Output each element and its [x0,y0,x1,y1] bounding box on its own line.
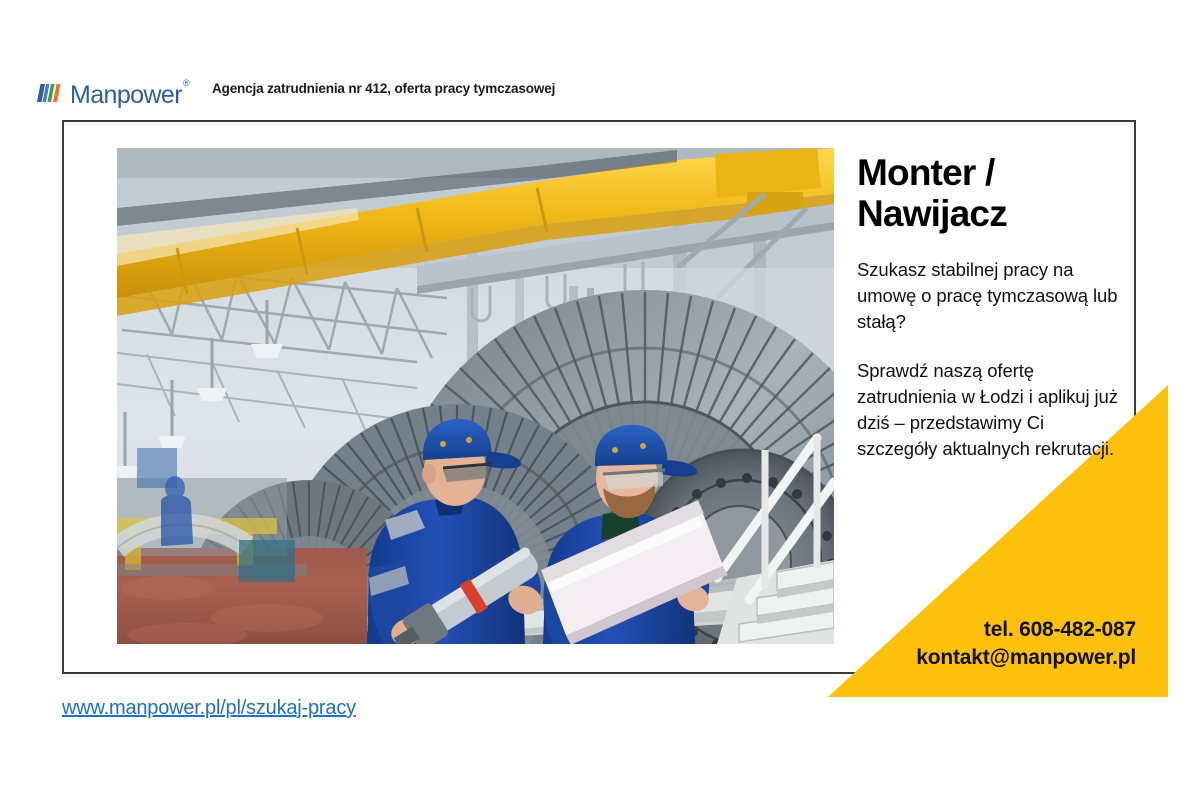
jobs-website-link[interactable]: www.manpower.pl/pl/szukaj-pracy [62,697,356,720]
offer-text-column: Monter / Nawijacz Szukasz stabilnej prac… [857,152,1119,463]
contact-email[interactable]: kontakt@manpower.pl [830,644,1136,672]
factory-turbine-photo [117,148,834,644]
page-header: Manpower® Agencja zatrudnienia nr 412, o… [0,70,1200,116]
page-title: Monter / Nawijacz [857,152,1119,235]
contact-block: tel. 608-482-087 kontakt@manpower.pl [830,616,1136,671]
manpower-slashes-icon [34,83,64,103]
offer-paragraph-2: Sprawdź naszą ofertę zatrudnienia w Łodz… [857,358,1119,463]
contact-phone[interactable]: tel. 608-482-087 [830,616,1136,644]
registered-trademark-icon: ® [183,78,189,88]
manpower-wordmark-text: Manpower [70,81,182,109]
manpower-wordmark: Manpower® [70,83,188,108]
manpower-logo: Manpower® [34,72,188,106]
header-tagline: Agencja zatrudnienia nr 412, oferta prac… [212,81,555,96]
offer-paragraph-1: Szukasz stabilnej pracy na umowę o pracę… [857,257,1119,336]
